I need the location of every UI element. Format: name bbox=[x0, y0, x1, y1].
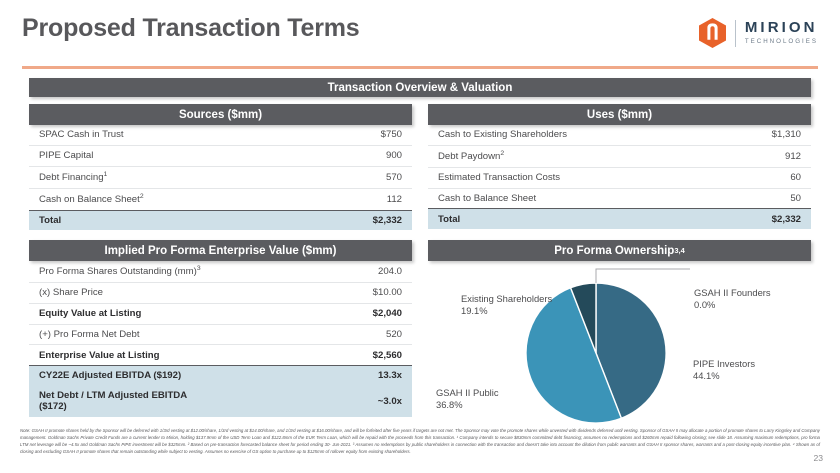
panel-epv-header: Implied Pro Forma Enterprise Value ($mm) bbox=[29, 240, 412, 261]
row-label: SPAC Cash in Trust bbox=[29, 125, 221, 145]
table-row: (+) Pro Forma Net Debt 520 bbox=[29, 324, 412, 345]
table-row: Enterprise Value at Listing $2,560 bbox=[29, 345, 412, 366]
footnote-ref: 3 bbox=[197, 265, 201, 272]
accent-rule bbox=[22, 66, 818, 69]
footnote-ref: 3,4 bbox=[674, 246, 684, 255]
table-row-total: Total $2,332 bbox=[428, 209, 811, 229]
panel-ownership: Pro Forma Ownership3,4 PIPE Investors 44… bbox=[428, 240, 811, 431]
table-row-total: Total $2,332 bbox=[29, 210, 412, 230]
row-label: Debt Financing1 bbox=[29, 166, 221, 188]
table-row: Cash to Existing Shareholders $1,310 bbox=[428, 125, 811, 145]
row-label: Equity Value at Listing bbox=[29, 303, 221, 324]
table-row: Cash to Balance Sheet 50 bbox=[428, 188, 811, 209]
table-row: Debt Paydown2 912 bbox=[428, 145, 811, 167]
panel-sources: Sources ($mm) SPAC Cash in Trust $750 PI… bbox=[29, 104, 412, 230]
logo-wordmark: MIRION bbox=[745, 20, 818, 35]
table-row: Debt Financing1 570 bbox=[29, 166, 412, 188]
pie-label-gsah-ii-founders: GSAH II Founders 0.0% bbox=[694, 287, 771, 311]
row-label: Cash on Balance Sheet2 bbox=[29, 188, 221, 210]
row-value: $2,560 bbox=[221, 345, 413, 366]
row-label: Enterprise Value at Listing bbox=[29, 345, 221, 366]
row-value: 50 bbox=[620, 188, 812, 209]
table-row: Cash on Balance Sheet2 112 bbox=[29, 188, 412, 210]
row-value: 60 bbox=[620, 167, 812, 188]
page-number: 23 bbox=[813, 453, 823, 463]
page-title: Proposed Transaction Terms bbox=[22, 14, 360, 43]
footnote: Note: GSAH II promote shares held by the… bbox=[20, 427, 820, 455]
total-label: Total bbox=[428, 209, 620, 229]
row-value: 570 bbox=[221, 166, 413, 188]
panel-ownership-header: Pro Forma Ownership3,4 bbox=[428, 240, 811, 261]
panel-uses: Uses ($mm) Cash to Existing Shareholders… bbox=[428, 104, 811, 229]
row-value: $2,040 bbox=[221, 303, 413, 324]
total-label: Total bbox=[29, 210, 221, 230]
section-banner: Transaction Overview & Valuation bbox=[29, 78, 811, 97]
row-value: 112 bbox=[221, 188, 413, 210]
row-value: 204.0 bbox=[221, 261, 413, 282]
row-label: Pro Forma Shares Outstanding (mm)3 bbox=[29, 261, 221, 282]
table-row-highlight: CY22E Adjusted EBITDA ($192) 13.3x bbox=[29, 366, 412, 386]
row-label: Estimated Transaction Costs bbox=[428, 167, 620, 188]
logo-divider bbox=[735, 20, 736, 47]
highlight-value: 13.3x bbox=[221, 366, 413, 386]
row-value: 520 bbox=[221, 324, 413, 345]
pie-label-gsah-ii-public: GSAH II Public 36.8% bbox=[436, 387, 499, 411]
panel-enterprise-value: Implied Pro Forma Enterprise Value ($mm)… bbox=[29, 240, 412, 417]
row-value: $1,310 bbox=[620, 125, 812, 145]
table-row: Estimated Transaction Costs 60 bbox=[428, 167, 811, 188]
row-value: $750 bbox=[221, 125, 413, 145]
logo-tagline: TECHNOLOGIES bbox=[745, 39, 818, 45]
pie-chart: PIPE Investors 44.1% GSAH II Public 36.8… bbox=[428, 261, 811, 431]
table-row-highlight: Net Debt / LTM Adjusted EBITDA ($172) ~3… bbox=[29, 386, 412, 417]
pie-leader-line-gsah-ii-founders bbox=[596, 269, 690, 283]
row-label: (+) Pro Forma Net Debt bbox=[29, 324, 221, 345]
footnote-ref: 2 bbox=[140, 193, 144, 200]
table-row: Equity Value at Listing $2,040 bbox=[29, 303, 412, 324]
highlight-value: ~3.0x bbox=[221, 386, 413, 417]
panel-sources-header: Sources ($mm) bbox=[29, 104, 412, 125]
highlight-label: Net Debt / LTM Adjusted EBITDA ($172) bbox=[29, 386, 221, 417]
row-value: 912 bbox=[620, 145, 812, 167]
row-value: $10.00 bbox=[221, 282, 413, 303]
footnote-ref: 1 bbox=[104, 171, 108, 178]
row-value: 900 bbox=[221, 145, 413, 166]
row-label: Cash to Existing Shareholders bbox=[428, 125, 620, 145]
row-label: Cash to Balance Sheet bbox=[428, 188, 620, 209]
table-row: (x) Share Price $10.00 bbox=[29, 282, 412, 303]
row-label: PIPE Capital bbox=[29, 145, 221, 166]
enterprise-value-table: Pro Forma Shares Outstanding (mm)3 204.0… bbox=[29, 261, 412, 417]
table-row: PIPE Capital 900 bbox=[29, 145, 412, 166]
pie-label-existing-shareholders: Existing Shareholders 19.1% bbox=[461, 293, 552, 317]
pie-label-pipe-investors: PIPE Investors 44.1% bbox=[693, 358, 755, 382]
slide: Proposed Transaction Terms MIRION TECHNO… bbox=[0, 0, 840, 473]
row-label: Debt Paydown2 bbox=[428, 145, 620, 167]
table-row: SPAC Cash in Trust $750 bbox=[29, 125, 412, 145]
brand-logo: MIRION TECHNOLOGIES bbox=[699, 18, 818, 48]
sources-table: SPAC Cash in Trust $750 PIPE Capital 900… bbox=[29, 125, 412, 230]
mirion-hexagon-m-icon bbox=[699, 18, 726, 48]
table-row: Pro Forma Shares Outstanding (mm)3 204.0 bbox=[29, 261, 412, 282]
total-value: $2,332 bbox=[620, 209, 812, 229]
total-value: $2,332 bbox=[221, 210, 413, 230]
uses-table: Cash to Existing Shareholders $1,310 Deb… bbox=[428, 125, 811, 229]
row-label: (x) Share Price bbox=[29, 282, 221, 303]
footnote-ref: 2 bbox=[500, 150, 504, 157]
highlight-label: CY22E Adjusted EBITDA ($192) bbox=[29, 366, 221, 386]
panel-uses-header: Uses ($mm) bbox=[428, 104, 811, 125]
